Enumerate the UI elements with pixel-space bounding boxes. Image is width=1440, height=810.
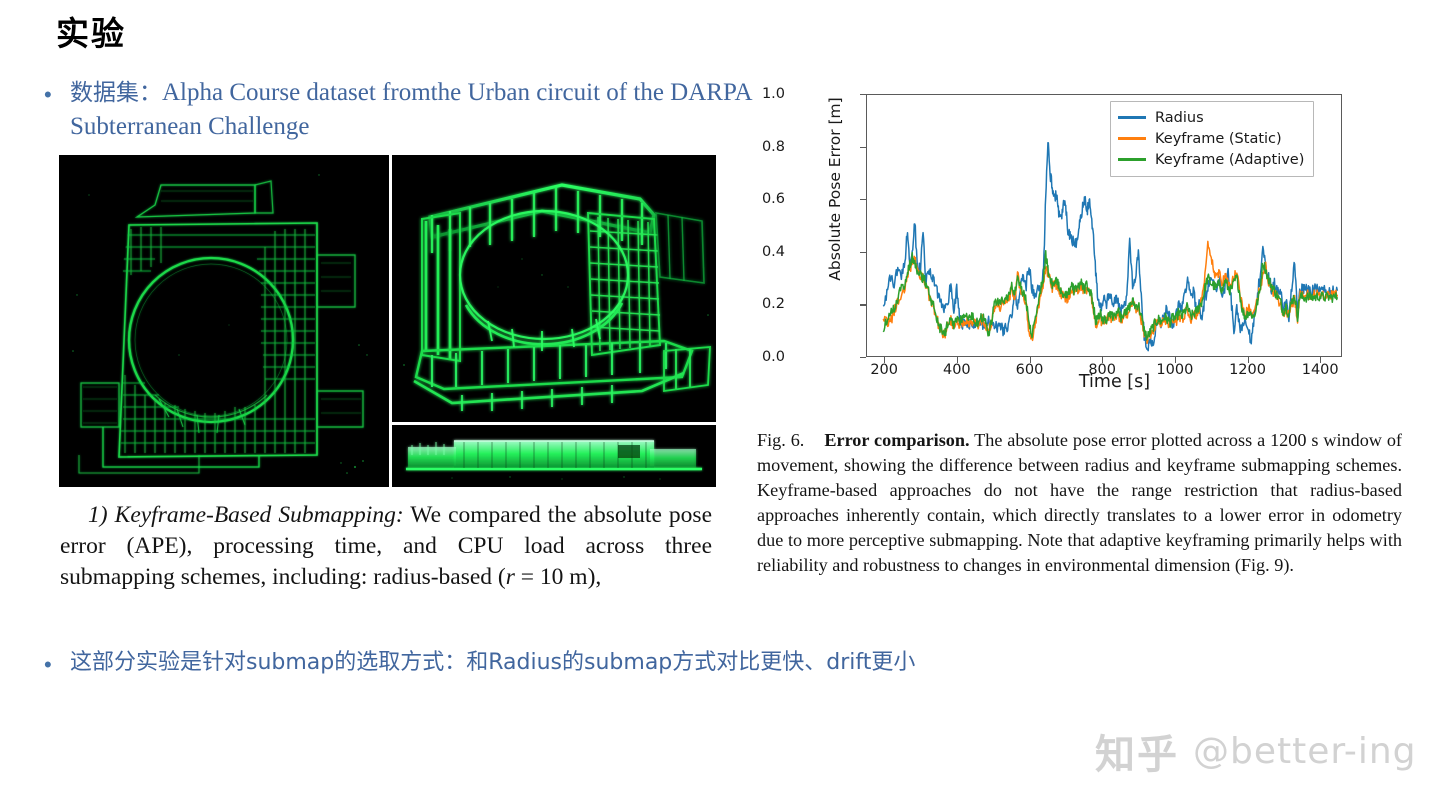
legend-label: Keyframe (Adaptive) [1155, 152, 1304, 168]
chart-legend: RadiusKeyframe (Static)Keyframe (Adaptiv… [1110, 101, 1314, 177]
chart-x-tick-mark [957, 357, 958, 363]
legend-swatch-icon [1118, 137, 1146, 140]
chart-y-tick-mark [860, 252, 866, 253]
chart-x-tick-label: 800 [1088, 362, 1116, 378]
chart-y-tick-label: 0.6 [737, 191, 785, 207]
figure-caption-body: The absolute pose error plotted across a… [757, 430, 1402, 575]
error-comparison-chart: Absolute Pose Error [m] Time [s] RadiusK… [792, 80, 1367, 405]
chart-x-tick-label: 1200 [1229, 362, 1266, 378]
zhihu-logo-icon: 知乎 [1095, 722, 1179, 780]
pointcloud-perspective-panel [392, 155, 716, 422]
chart-x-tick-mark [1102, 357, 1103, 363]
chart-x-tick-label: 200 [870, 362, 898, 378]
chart-y-axis-label: Absolute Pose Error [m] [826, 64, 844, 314]
bullet-conclusion-text: 这部分实验是针对submap的选取方式：和Radius的submap方式对比更快… [70, 648, 915, 677]
figure-caption-title: Error comparison. [824, 430, 969, 450]
bullet-dataset-text: 数据集：Alpha Course dataset fromthe Urban c… [70, 76, 770, 143]
paragraph-heading: Keyframe-Based Submapping: [115, 502, 404, 528]
legend-item-1: Radius [1118, 107, 1304, 128]
watermark: 知乎 @better-ing [1095, 722, 1417, 780]
legend-item-3: Keyframe (Adaptive) [1118, 149, 1304, 170]
chart-y-tick-mark [860, 199, 866, 200]
chart-y-tick-label: 1.0 [737, 86, 785, 102]
legend-item-2: Keyframe (Static) [1118, 128, 1304, 149]
left-column-paragraph: 1) Keyframe-Based Submapping: We compare… [60, 500, 712, 593]
chart-x-tick-label: 1000 [1156, 362, 1193, 378]
page-title: 实验 [56, 16, 126, 52]
bullet-dataset: • 数据集：Alpha Course dataset fromthe Urban… [44, 76, 784, 143]
chart-x-tick-mark [1030, 357, 1031, 363]
legend-swatch-icon [1118, 116, 1146, 119]
side-profile-pointcloud-image [392, 425, 716, 487]
pointcloud-right-column [392, 155, 716, 487]
chart-x-tick-mark [1320, 357, 1321, 363]
chart-y-tick-mark [860, 304, 866, 305]
chart-x-tick-mark [1248, 357, 1249, 363]
chart-y-tick-label: 0.2 [737, 296, 785, 312]
bullet-marker-icon: • [44, 648, 70, 676]
top-down-pointcloud-image [59, 155, 389, 487]
pointcloud-top-down-panel [59, 155, 389, 487]
chart-y-tick-mark [860, 94, 866, 95]
paragraph-heading-number: 1) [88, 502, 108, 528]
bullet-marker-icon: • [44, 76, 70, 106]
chart-x-tick-label: 1400 [1302, 362, 1339, 378]
chart-y-tick-label: 0.0 [737, 349, 785, 365]
watermark-handle: @better-ing [1193, 731, 1417, 772]
chart-y-tick-label: 0.8 [737, 139, 785, 155]
bullet-dataset-value: Alpha Course dataset fromthe Urban circu… [70, 79, 751, 140]
chart-x-tick-mark [1175, 357, 1176, 363]
chart-y-tick-label: 0.4 [737, 244, 785, 260]
paragraph-body-second: = 10 m), [515, 564, 601, 590]
legend-label: Radius [1155, 110, 1204, 126]
pointcloud-figure [59, 155, 716, 487]
paragraph-math-variable: r [506, 564, 515, 590]
pointcloud-side-profile-panel [392, 425, 716, 487]
chart-x-tick-label: 600 [1016, 362, 1044, 378]
legend-swatch-icon [1118, 158, 1146, 161]
bullet-dataset-label: 数据集： [70, 80, 162, 106]
chart-x-tick-label: 400 [943, 362, 971, 378]
figure-number: Fig. 6. [757, 430, 804, 450]
bullet-conclusion: • 这部分实验是针对submap的选取方式：和Radius的submap方式对比… [44, 648, 1164, 677]
chart-y-tick-mark [860, 147, 866, 148]
chart-y-tick-mark [860, 357, 866, 358]
legend-label: Keyframe (Static) [1155, 131, 1282, 147]
chart-x-tick-mark [884, 357, 885, 363]
perspective-pointcloud-image [392, 155, 716, 422]
figure-caption: Fig. 6.Error comparison. The absolute po… [757, 428, 1402, 578]
